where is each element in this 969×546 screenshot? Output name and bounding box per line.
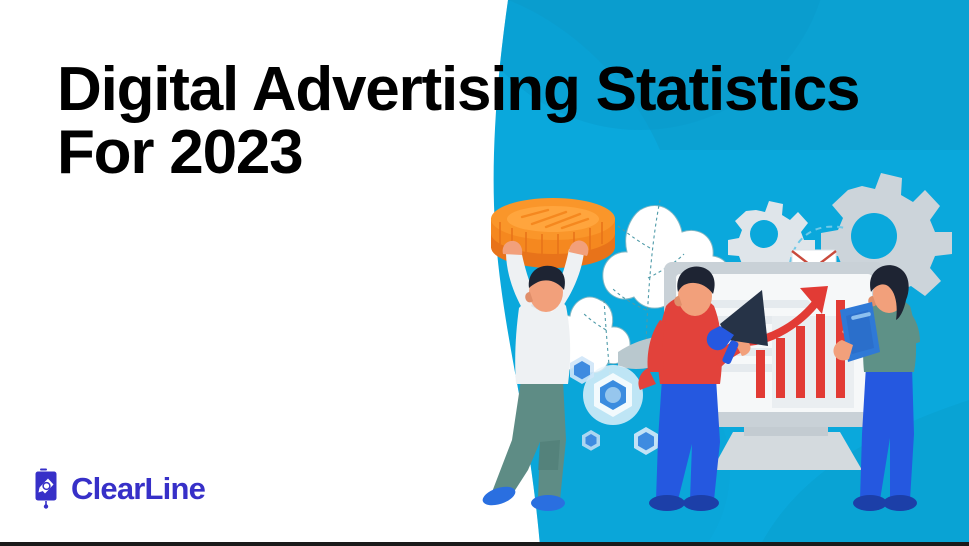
brand-logo[interactable]: ClearLine xyxy=(35,466,205,510)
brand-name: ClearLine xyxy=(71,473,205,504)
page-title: Digital Advertising Statistics For 2023 xyxy=(57,58,897,184)
slide-root: Digital Advertising Statistics For 2023 … xyxy=(0,0,969,546)
phone-tag-icon xyxy=(35,466,64,510)
bottom-divider xyxy=(0,542,969,546)
